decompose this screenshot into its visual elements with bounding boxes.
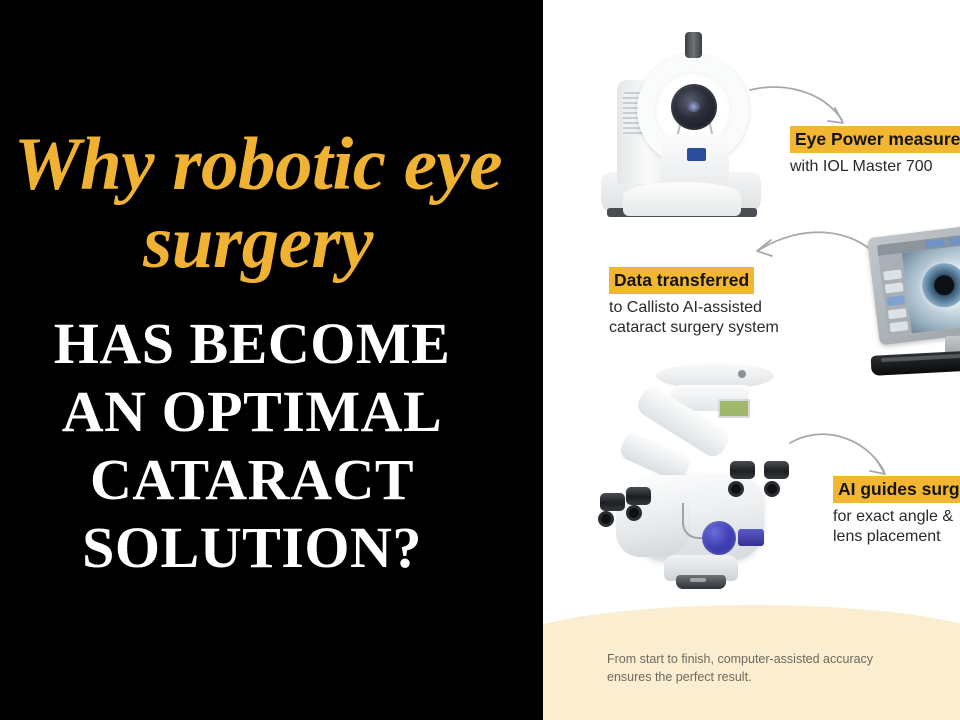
callisto-monitor-image: [861, 224, 960, 384]
microscope-blue-lever: [738, 529, 764, 546]
iol-top-post: [685, 32, 702, 58]
label-ai-guides: AI guides surgeon for exact angle & lens…: [833, 476, 960, 547]
callisto-monitor-base: [871, 348, 960, 376]
right-infographic-panel: Eye Power measured with IOL Master 700 D…: [543, 0, 960, 720]
callisto-sidebar-button-5: [889, 321, 908, 332]
slide-canvas: Why robotic eye surgery HAS BECOME AN OP…: [0, 0, 960, 720]
microscope-eyepiece-right-2: [764, 481, 780, 497]
microscope-eyepiece-tube-right-1: [730, 461, 755, 479]
headline-script-line-2: surgery: [0, 204, 543, 282]
label-eye-power-subtitle: with IOL Master 700: [790, 157, 960, 177]
microscope-eyepiece-left-2: [626, 505, 642, 521]
label-ai-guides-subtitle-2: lens placement: [833, 527, 960, 547]
microscope-lcd-display: [718, 399, 750, 418]
footer-caption: From start to finish, computer-assisted …: [607, 650, 937, 686]
iol-chin-rest: [661, 134, 729, 188]
microscope-eyepiece-tube-right-2: [764, 461, 789, 479]
callisto-sidebar-button-2: [885, 282, 904, 293]
zeiss-logo-badge: [687, 148, 706, 161]
callisto-screen: [877, 232, 960, 337]
footer-caption-line-1: From start to finish, computer-assisted …: [607, 650, 937, 668]
callisto-sidebar-button-4: [888, 308, 907, 319]
microscope-blue-knob: [702, 521, 736, 555]
headline-block: Why robotic eye surgery HAS BECOME AN OP…: [0, 0, 543, 720]
iol-master-700-image: [593, 22, 773, 222]
iol-base-front: [623, 182, 741, 216]
microscope-mount-bolt: [738, 370, 746, 378]
microscope-eyepiece-tube-left-2: [626, 487, 651, 505]
label-ai-guides-highlight: AI guides surgeon: [833, 476, 960, 503]
microscope-objective-glint: [690, 578, 706, 582]
label-eye-power: Eye Power measured with IOL Master 700: [790, 126, 960, 177]
label-data-transferred-highlight: Data transferred: [609, 267, 754, 294]
headline-serif-line-2: AN OPTIMAL: [0, 381, 543, 443]
headline-serif-line-1: HAS BECOME: [0, 313, 543, 375]
left-title-panel: Why robotic eye surgery HAS BECOME AN OP…: [0, 0, 543, 720]
label-eye-power-highlight: Eye Power measured: [790, 126, 960, 153]
callisto-sidebar-button-1: [883, 269, 902, 280]
footer-caption-line-2: ensures the perfect result.: [607, 668, 937, 686]
iol-lens-reflection: [687, 101, 700, 112]
headline-script-line-1: Why robotic eye: [0, 126, 543, 204]
label-data-transferred: Data transferred to Callisto AI-assisted…: [609, 267, 779, 338]
callisto-toolbar-button-2: [949, 236, 960, 245]
callisto-sidebar-button-3: [886, 295, 905, 306]
microscope-eyepiece-tube-left-1: [600, 493, 625, 511]
label-data-transferred-subtitle-1: to Callisto AI-assisted: [609, 298, 779, 318]
callisto-toolbar-button-1: [925, 239, 946, 248]
surgical-microscope-image: [578, 363, 828, 608]
headline-serif-line-3: CATARACT: [0, 449, 543, 511]
microscope-eyepiece-right-1: [728, 481, 744, 497]
label-data-transferred-subtitle-2: cataract surgery system: [609, 318, 779, 338]
headline-serif-line-4: SOLUTION?: [0, 517, 543, 579]
microscope-eyepiece-left-1: [598, 511, 614, 527]
label-ai-guides-subtitle-1: for exact angle &: [833, 507, 960, 527]
